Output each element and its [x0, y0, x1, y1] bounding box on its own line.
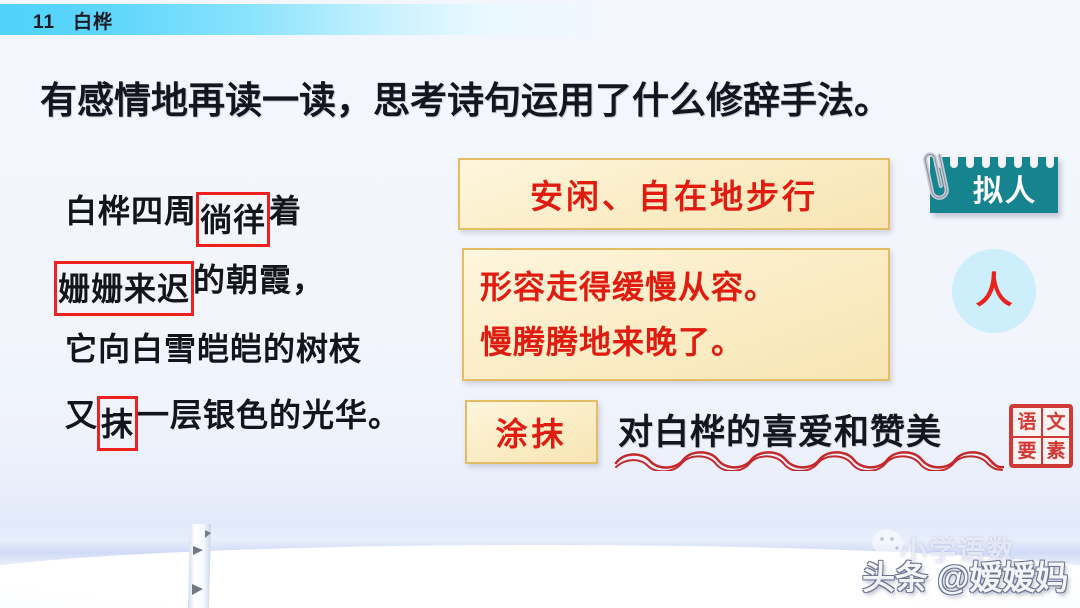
annotation-card-1-text: 安闲、自在地步行 — [530, 170, 818, 218]
poem-line-1-pre: 白桦四周 — [65, 192, 197, 230]
seal-cell-1: 语 — [1013, 408, 1041, 436]
slide-canvas: 11白桦 有感情地再读一读，思考诗句运用了什么修辞手法。 白桦四周徜徉着 姗姗来… — [0, 0, 1080, 608]
wavy-underline-decoration — [614, 449, 1004, 471]
seal-cell-4: 素 — [1041, 436, 1069, 464]
annotation-card-3-text: 涂抹 — [495, 409, 567, 455]
seal-cell-3: 要 — [1013, 436, 1041, 464]
highlight-box-changyang: 徜徉 — [196, 192, 270, 247]
annotation-card-meaning-1: 安闲、自在地步行 — [458, 158, 890, 230]
seal-cell-2: 文 — [1041, 408, 1069, 436]
annotation-card-2-line-1: 形容走得缓慢从容。 — [480, 260, 888, 315]
watermark: 小学语数 头条 @嫒嫒妈 — [856, 527, 1072, 599]
page-title: 有感情地再读一读，思考诗句运用了什么修辞手法。 — [40, 70, 1050, 124]
person-circle-tag[interactable]: 人 — [952, 249, 1036, 333]
rhetoric-device-tag[interactable]: 拟人 — [930, 157, 1058, 213]
poem-line-1-post: 着 — [269, 192, 302, 230]
annotation-card-meaning-2: 形容走得缓慢从容。 慢腾腾地来晚了。 — [462, 248, 890, 381]
annotation-card-meaning-3: 涂抹 — [465, 400, 598, 464]
poem-line-4-post: 一层银色的光华。 — [137, 396, 401, 434]
header-title: 11白桦 — [33, 7, 113, 34]
poem-line-4-pre: 又 — [65, 396, 98, 434]
person-circle-label: 人 — [976, 272, 1013, 309]
highlight-box-shanshanlaichi: 姗姗来迟 — [54, 261, 194, 316]
poem-text: 白桦四周徜徉着 姗姗来迟的朝霞， 它向白雪皑皑的树枝 又抹一层银色的光华。 — [55, 178, 455, 451]
poem-line-3: 它向白雪皑皑的树枝 — [55, 316, 455, 382]
birch-trunk-decoration — [178, 524, 222, 608]
language-elements-seal: 语 文 要 素 — [1009, 404, 1073, 468]
poem-line-2-post: 的朝霞， — [193, 261, 325, 299]
watermark-handle: 头条 @嫒嫒妈 — [862, 551, 1068, 599]
lesson-number: 11 — [33, 12, 55, 33]
poem-line-4: 又抹一层银色的光华。 — [55, 382, 455, 451]
annotation-card-2-line-2: 慢腾腾地来晚了。 — [480, 315, 888, 370]
lesson-title: 白桦 — [73, 12, 113, 33]
poem-line-1: 白桦四周徜徉着 — [55, 178, 455, 247]
conclusion-text: 对白桦的喜爱和赞美 — [618, 404, 942, 455]
highlight-box-mo: 抹 — [97, 396, 138, 451]
poem-line-2: 姗姗来迟的朝霞， — [55, 247, 455, 316]
